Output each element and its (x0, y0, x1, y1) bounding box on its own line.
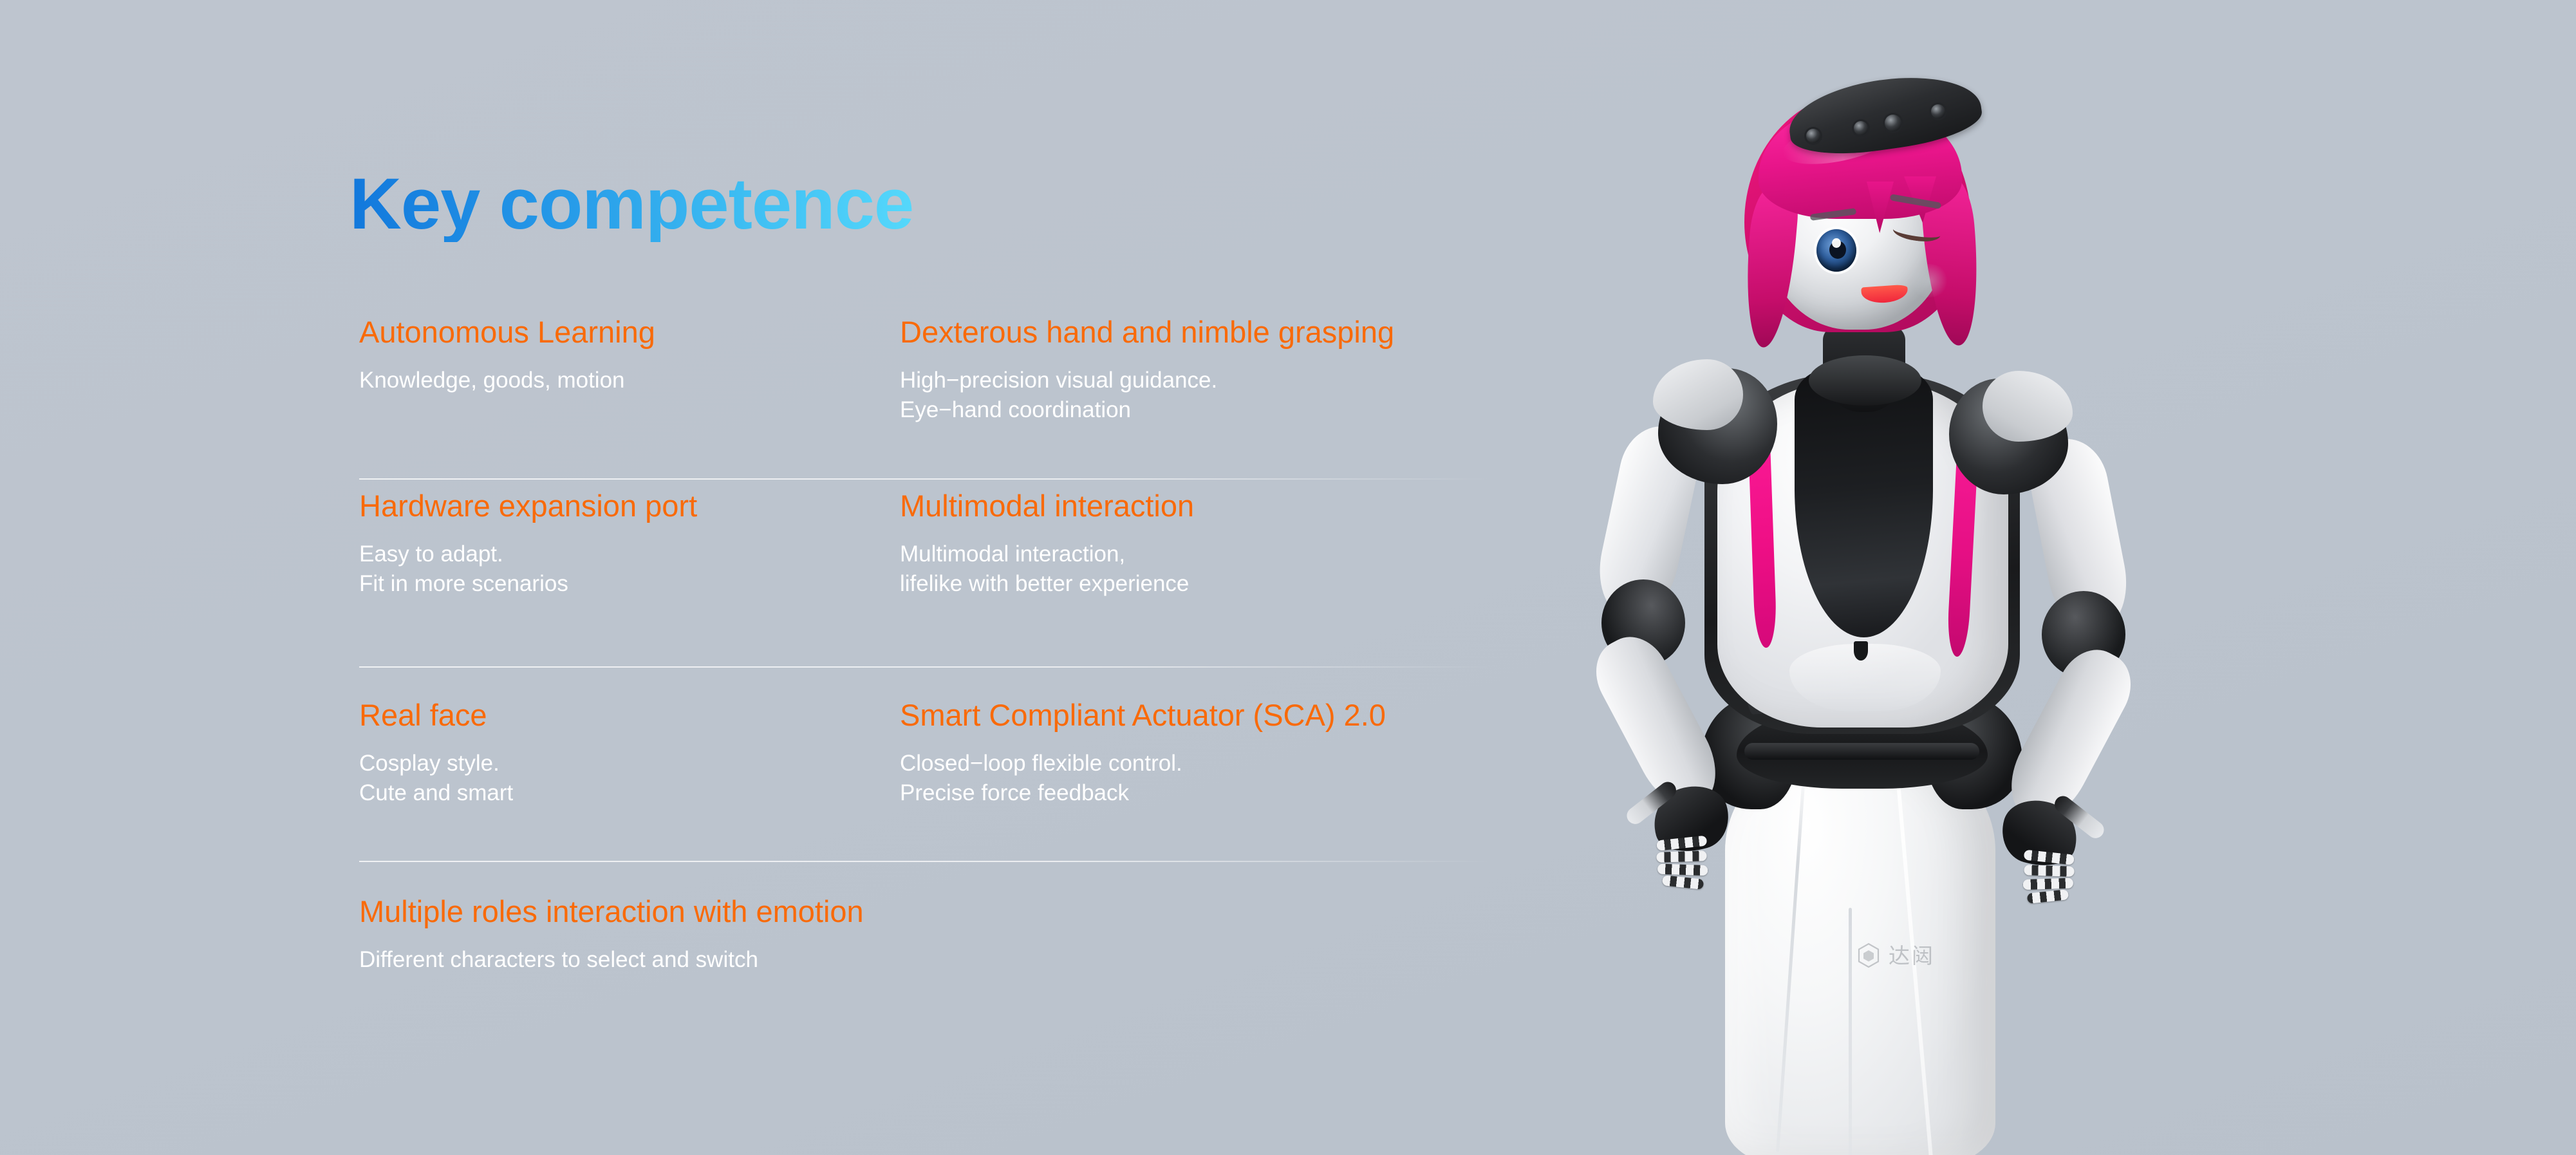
feature-body: Multimodal interaction, lifelike with be… (900, 540, 1194, 599)
cube-logo-icon (1857, 943, 1880, 968)
robot-leg-seam-center (1849, 908, 1852, 1155)
feature-heading: Hardware expansion port (359, 489, 697, 523)
slide-canvas: Key competence Autonomous Learning Knowl… (0, 0, 2576, 1155)
camera-lens-icon (1806, 129, 1820, 143)
robot-cheek (1909, 264, 1949, 297)
feature-heading: Autonomous Learning (359, 315, 655, 350)
feature-item-multiple-roles-interaction: Multiple roles interaction with emotion … (359, 895, 864, 975)
camera-lens-icon (1854, 121, 1868, 135)
robot-neck-collar (1809, 355, 1921, 406)
feature-item-real-face: Real face Cosplay style. Cute and smart (359, 699, 513, 808)
feature-heading: Multimodal interaction (900, 489, 1194, 523)
feature-item-dexterous-hand: Dexterous hand and nimble grasping High−… (900, 315, 1394, 425)
robot-finger (2027, 889, 2069, 904)
feature-heading: Dexterous hand and nimble grasping (900, 315, 1394, 350)
feature-body: High−precision visual guidance. Eye−hand… (900, 366, 1394, 425)
feature-item-smart-compliant-actuator: Smart Compliant Actuator (SCA) 2.0 Close… (900, 699, 1386, 808)
feature-body: Closed−loop flexible control. Precise fo… (900, 749, 1386, 808)
feature-grid: Autonomous Learning Knowledge, goods, mo… (0, 0, 2576, 1155)
robot-illustration: 达闼 (1532, 39, 2182, 1155)
feature-item-hardware-expansion-port: Hardware expansion port Easy to adapt. F… (359, 489, 697, 599)
feature-body: Easy to adapt. Fit in more scenarios (359, 540, 697, 599)
feature-item-autonomous-learning: Autonomous Learning Knowledge, goods, mo… (359, 315, 655, 395)
feature-body: Cosplay style. Cute and smart (359, 749, 513, 808)
camera-lens-icon (1885, 115, 1901, 131)
feature-body: Different characters to select and switc… (359, 945, 864, 975)
feature-item-multimodal-interaction: Multimodal interaction Multimodal intera… (900, 489, 1194, 599)
feature-heading: Real face (359, 699, 513, 733)
robot-finger (2023, 878, 2074, 890)
robot-finger (1656, 850, 1707, 863)
robot-shoulder-cap-left (1653, 359, 1743, 430)
robot-sensor-headband (1784, 67, 1985, 163)
robot-finger (1662, 875, 1704, 890)
feature-body: Knowledge, goods, motion (359, 366, 655, 395)
feature-heading: Multiple roles interaction with emotion (359, 895, 864, 929)
feature-heading: Smart Compliant Actuator (SCA) 2.0 (900, 699, 1386, 733)
camera-lens-icon (1931, 104, 1945, 118)
robot-finger (1657, 863, 1708, 876)
robot-shoulder-cap-right (1983, 371, 2073, 442)
robot-eye-glint (1832, 238, 1841, 248)
robot-belt (1744, 743, 1979, 760)
robot-brand-logo: 达闼 (1857, 943, 1935, 968)
robot-brand-text: 达闼 (1889, 945, 1935, 966)
robot-finger (2024, 865, 2075, 877)
robot-chest-vent (1854, 641, 1868, 661)
